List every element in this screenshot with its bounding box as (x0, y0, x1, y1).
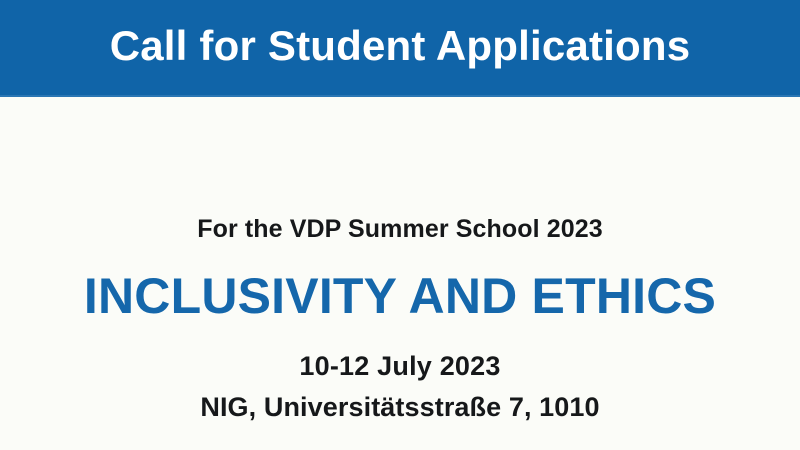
poster-body: For the VDP Summer School 2023 INCLUSIVI… (0, 97, 800, 450)
event-subtitle: For the VDP Summer School 2023 (197, 216, 602, 244)
event-dates: 10-12 July 2023 (299, 352, 500, 380)
poster-canvas: Call for Student Applications For the VD… (0, 0, 800, 450)
banner-title: Call for Student Applications (100, 25, 701, 67)
header-banner: Call for Student Applications (0, 0, 800, 97)
event-venue: NIG, Universitätsstraße 7, 1010 (200, 393, 599, 421)
event-headline: INCLUSIVITY AND ETHICS (84, 271, 716, 321)
